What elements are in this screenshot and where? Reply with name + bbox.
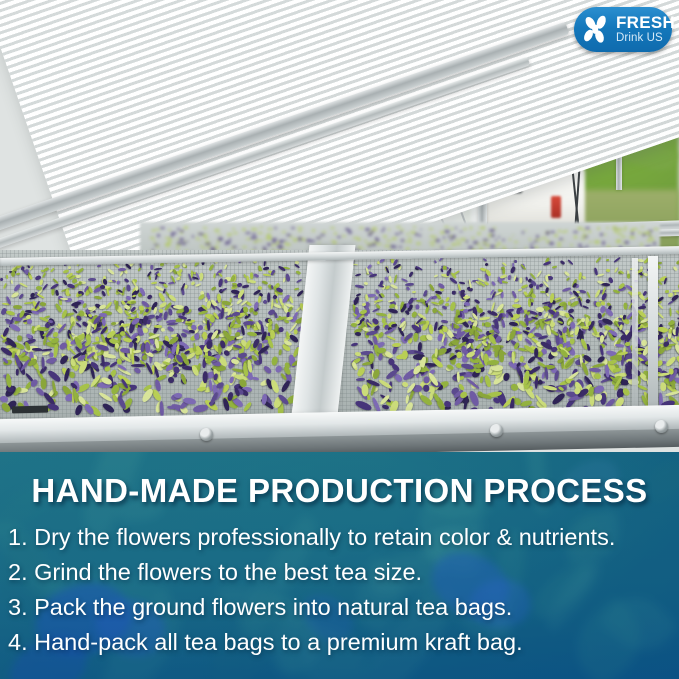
- dried-flower: [150, 237, 155, 239]
- dried-flower: [428, 324, 433, 334]
- brand-logo-badge[interactable]: FRESH Drink US: [574, 7, 672, 52]
- dried-flower: [394, 292, 400, 299]
- dried-flower: [536, 285, 539, 290]
- dried-flower: [594, 240, 600, 244]
- dried-flower: [416, 242, 421, 245]
- dried-flower: [318, 242, 320, 244]
- dried-flower: [114, 343, 118, 349]
- dried-flower: [150, 265, 153, 270]
- dried-flower: [638, 231, 642, 234]
- dried-flower: [479, 317, 490, 321]
- dried-flower: [529, 284, 533, 288]
- dried-flower: [550, 231, 555, 233]
- dried-flower: [623, 242, 626, 245]
- brand-logo-text: FRESH Drink US: [616, 14, 675, 45]
- dried-flower: [378, 284, 384, 287]
- dried-flower: [39, 301, 46, 307]
- dried-flower: [457, 242, 462, 245]
- dried-flower: [268, 233, 271, 235]
- dried-flower: [629, 236, 633, 238]
- dried-flower: [408, 237, 412, 240]
- dried-flower: [647, 239, 651, 242]
- dried-flower: [434, 259, 437, 263]
- dried-flower: [641, 226, 644, 228]
- dried-flower: [151, 281, 157, 284]
- dried-flower: [202, 247, 205, 249]
- dried-flower: [287, 306, 293, 312]
- dried-flower: [330, 227, 335, 229]
- dried-flower: [295, 261, 299, 264]
- dried-flower: [144, 342, 150, 353]
- dried-flower: [376, 238, 379, 241]
- dried-flower: [551, 391, 566, 405]
- dried-flower: [530, 243, 536, 245]
- dried-flower: [631, 232, 634, 235]
- dried-flower: [203, 372, 208, 384]
- dried-flower: [391, 238, 396, 241]
- dried-flower: [294, 264, 300, 269]
- dried-flower: [479, 376, 484, 384]
- dried-flower: [350, 342, 358, 347]
- dried-flower: [112, 279, 116, 282]
- dried-flower: [94, 295, 102, 299]
- dried-flower: [574, 235, 577, 239]
- dried-flower: [443, 236, 445, 239]
- dried-flower: [456, 372, 459, 383]
- dried-flower: [316, 237, 322, 239]
- dried-flower: [16, 369, 19, 376]
- dried-flower: [362, 302, 366, 305]
- dried-flower: [54, 289, 59, 295]
- dried-flower: [577, 227, 583, 230]
- dried-flower: [267, 228, 273, 231]
- dried-flower: [278, 349, 282, 355]
- dried-flower: [77, 293, 81, 296]
- dried-flower: [487, 360, 499, 365]
- production-process-panel: HAND-MADE PRODUCTION PROCESS 1. Dry the …: [0, 452, 679, 679]
- dried-flower: [59, 354, 69, 365]
- dried-flower: [442, 305, 448, 310]
- dried-flower: [376, 347, 385, 352]
- dried-flower: [614, 230, 617, 233]
- dried-flower: [621, 236, 626, 239]
- dried-flower: [364, 294, 368, 301]
- dried-flower: [176, 244, 181, 246]
- dried-flower: [489, 229, 495, 232]
- brand-secondary-text: Drink US: [616, 33, 675, 45]
- dried-flower: [491, 281, 496, 287]
- dried-flower: [126, 284, 131, 292]
- list-item: 3. Pack the ground flowers into natural …: [8, 590, 671, 625]
- dried-flower: [564, 271, 570, 277]
- dried-flower: [103, 353, 116, 360]
- flower-bed-left: [0, 258, 300, 408]
- dried-flower: [482, 226, 485, 229]
- dried-flower: [204, 236, 208, 239]
- dried-flower: [617, 233, 622, 235]
- dried-flower: [581, 239, 586, 241]
- dried-flower: [257, 232, 263, 235]
- flower-bed-right: [350, 258, 679, 408]
- dried-flower: [160, 227, 165, 229]
- dried-flower: [146, 294, 152, 300]
- dried-flower: [378, 378, 392, 389]
- dried-flower: [617, 229, 623, 232]
- dried-flower: [16, 273, 20, 276]
- dried-flower: [257, 296, 261, 303]
- dried-flower: [413, 226, 416, 228]
- dried-flower: [529, 238, 531, 241]
- dried-flower: [604, 233, 607, 236]
- dried-flower: [263, 365, 273, 375]
- dried-flower: [258, 353, 262, 364]
- dried-flower: [538, 283, 542, 287]
- dried-flower: [65, 289, 69, 296]
- dried-flower: [364, 240, 368, 242]
- dried-flower: [441, 319, 448, 323]
- dried-flower: [383, 235, 387, 238]
- dried-flower: [495, 239, 497, 241]
- list-item: 4. Hand-pack all tea bags to a premium k…: [8, 625, 671, 660]
- dried-flower: [462, 309, 468, 314]
- dried-flower: [263, 274, 271, 277]
- dried-flower: [274, 227, 277, 229]
- dried-flower: [434, 274, 438, 278]
- dried-flower: [474, 330, 478, 341]
- dried-flower: [223, 264, 227, 269]
- dried-flower: [194, 283, 200, 287]
- beam-bolt: [655, 420, 668, 433]
- dried-flower: [171, 232, 174, 235]
- dried-flower: [459, 231, 463, 233]
- dried-flower: [124, 278, 130, 284]
- dried-flower: [485, 374, 492, 387]
- dried-flower: [363, 281, 368, 285]
- dried-flower: [211, 286, 217, 291]
- list-item: 1. Dry the flowers professionally to ret…: [8, 520, 671, 555]
- dried-flower: [208, 245, 211, 248]
- dried-flower: [41, 357, 45, 369]
- dried-flower: [232, 246, 237, 248]
- dried-flower: [649, 236, 652, 239]
- dried-flower: [342, 235, 346, 237]
- dried-flower: [519, 277, 523, 283]
- dried-flower: [156, 245, 158, 248]
- dried-flower: [507, 275, 511, 280]
- dried-flower: [388, 228, 390, 231]
- dried-flower: [498, 236, 500, 238]
- tray-edge-right: [648, 256, 658, 416]
- dried-flower: [6, 373, 12, 387]
- dried-flower: [359, 227, 364, 229]
- dried-flower: [622, 315, 626, 320]
- dried-flower: [218, 272, 223, 277]
- dried-flower: [278, 326, 284, 331]
- dried-flower: [131, 364, 145, 367]
- dried-flower: [298, 230, 302, 232]
- dried-flower: [470, 226, 473, 229]
- dried-flower: [567, 301, 570, 305]
- dried-flower: [107, 268, 115, 276]
- dried-flower: [443, 266, 447, 270]
- dried-flower: [502, 246, 506, 248]
- dried-flower: [400, 229, 405, 231]
- dried-flower: [410, 231, 416, 234]
- dried-flower: [483, 257, 487, 261]
- dried-flower: [512, 235, 514, 237]
- dried-flower: [396, 226, 401, 228]
- dried-flower: [2, 283, 7, 289]
- dried-flower: [40, 378, 47, 389]
- dried-flower: [438, 245, 440, 247]
- dried-flower: [68, 266, 72, 269]
- dried-flower: [581, 275, 586, 280]
- dried-flower: [17, 335, 23, 341]
- dried-flower: [400, 349, 408, 360]
- dried-flower: [376, 243, 382, 245]
- dried-flower: [254, 247, 256, 249]
- dried-flower: [387, 245, 391, 247]
- dried-flower: [252, 229, 255, 231]
- dried-flower: [152, 229, 156, 231]
- dried-flower: [134, 367, 142, 375]
- dried-flower: [252, 233, 256, 235]
- dried-flower: [77, 267, 85, 273]
- dried-flower: [101, 290, 106, 296]
- dried-flower: [205, 340, 212, 349]
- dried-flower: [522, 231, 524, 234]
- dried-flower: [334, 232, 337, 235]
- dried-flower: [536, 307, 545, 313]
- dried-flower: [405, 282, 414, 286]
- dried-flower: [477, 232, 481, 236]
- dried-flower: [406, 233, 410, 235]
- dried-flower: [270, 330, 275, 339]
- dried-flower: [578, 244, 582, 247]
- page-title: HAND-MADE PRODUCTION PROCESS: [0, 472, 679, 510]
- dried-flower: [401, 277, 408, 282]
- dried-flower: [356, 378, 365, 382]
- list-item: 2. Grind the flowers to the best tea siz…: [8, 555, 671, 590]
- dried-flower: [449, 301, 456, 311]
- dried-flower: [570, 244, 573, 247]
- dried-flower: [624, 226, 628, 229]
- dried-flower: [675, 309, 679, 318]
- dried-flower: [168, 239, 171, 242]
- dried-flower: [198, 325, 204, 330]
- dried-flower: [401, 239, 404, 242]
- dried-flower: [386, 335, 396, 342]
- dried-flower: [595, 257, 601, 264]
- dried-flower: [208, 264, 215, 271]
- dried-flower: [642, 234, 647, 237]
- dried-flower: [168, 269, 172, 273]
- dried-flower: [39, 279, 43, 286]
- dried-flower: [72, 278, 77, 282]
- dried-flower: [450, 239, 452, 242]
- dried-flower: [520, 264, 526, 271]
- dried-flower: [615, 343, 624, 347]
- dried-flower: [510, 266, 516, 274]
- dried-flower: [156, 228, 158, 231]
- dried-flower: [441, 246, 443, 249]
- dried-flower: [271, 244, 276, 246]
- dried-flower: [6, 275, 8, 279]
- dried-flower: [400, 231, 402, 234]
- dried-flower: [357, 238, 361, 241]
- dried-flower: [6, 310, 16, 316]
- dried-flower: [184, 284, 188, 289]
- dried-flower: [182, 242, 186, 245]
- dried-flower: [168, 308, 173, 315]
- dried-flower: [348, 231, 352, 234]
- dried-flower: [405, 303, 409, 309]
- dried-flower: [588, 230, 592, 233]
- dried-flower: [199, 240, 202, 242]
- dried-flower: [320, 234, 326, 236]
- dried-flower: [423, 384, 430, 392]
- dried-flower: [196, 237, 199, 240]
- dried-flower: [207, 292, 211, 300]
- dried-flower: [433, 392, 440, 402]
- dried-flower: [354, 273, 360, 276]
- dried-flower: [415, 304, 419, 310]
- dried-flower: [267, 292, 270, 302]
- dried-flower: [514, 298, 520, 303]
- dried-flower: [412, 291, 416, 293]
- dried-flower: [429, 241, 435, 243]
- dried-flower: [354, 351, 360, 356]
- dried-flower: [159, 401, 164, 417]
- dried-flower: [444, 230, 450, 233]
- dried-flower: [294, 288, 299, 291]
- dried-flower: [282, 231, 287, 233]
- dried-flower: [429, 228, 433, 230]
- dried-flower: [217, 234, 222, 236]
- dried-flower: [368, 233, 373, 236]
- dried-flower: [471, 237, 475, 239]
- dried-flower: [457, 284, 460, 291]
- dried-flower: [452, 291, 456, 295]
- dried-flower: [440, 231, 445, 234]
- dried-flower: [174, 393, 182, 398]
- dried-flower: [183, 227, 186, 230]
- dried-flower: [422, 290, 427, 297]
- dried-flower: [408, 272, 413, 278]
- beam-label-plate: [12, 406, 48, 414]
- process-step-list: 1. Dry the flowers professionally to ret…: [8, 520, 671, 660]
- dried-flower: [395, 233, 399, 236]
- dried-flower: [105, 301, 113, 310]
- dried-flower: [168, 293, 177, 302]
- dried-flower: [455, 239, 458, 242]
- dried-flower: [583, 229, 586, 232]
- dried-flower: [163, 311, 168, 320]
- dried-flower: [162, 283, 167, 289]
- dried-flower: [392, 342, 401, 346]
- dried-flower: [497, 242, 501, 245]
- dried-flower: [536, 235, 539, 238]
- dried-flower: [503, 372, 510, 381]
- dried-flower: [96, 264, 100, 267]
- dried-flower: [578, 272, 582, 280]
- dried-flower: [267, 238, 271, 240]
- dried-flower: [88, 307, 93, 310]
- dried-flower: [24, 269, 28, 274]
- dried-flower: [0, 277, 4, 281]
- dried-flower: [534, 348, 538, 358]
- dried-flower: [481, 322, 484, 326]
- dried-flower: [366, 263, 372, 269]
- dried-flower: [180, 373, 187, 385]
- dried-flower: [388, 275, 391, 282]
- dried-flower: [182, 262, 186, 267]
- dried-flower: [42, 272, 47, 279]
- dried-flower: [176, 247, 179, 249]
- dried-flower: [665, 390, 679, 396]
- dried-flower: [567, 259, 573, 265]
- dried-flower: [225, 242, 229, 245]
- dried-flower: [377, 331, 384, 338]
- dried-flower: [374, 299, 383, 302]
- dried-flower: [337, 236, 341, 238]
- dried-flower: [562, 231, 566, 234]
- dried-flower: [131, 300, 136, 302]
- dried-flower: [606, 259, 609, 261]
- dried-flower: [227, 233, 232, 236]
- dried-flower: [285, 273, 290, 282]
- dried-flower: [10, 280, 13, 284]
- dried-flower: [597, 274, 605, 277]
- dried-flower: [597, 227, 601, 230]
- dried-flower: [491, 365, 503, 372]
- dried-flower: [626, 274, 629, 279]
- dried-flower: [586, 299, 591, 304]
- dried-flower: [445, 296, 450, 302]
- dried-flower: [509, 238, 512, 241]
- dried-flower: [376, 312, 387, 317]
- dried-flower: [559, 259, 565, 264]
- flower-petals-icon: [581, 14, 611, 46]
- dried-flower: [242, 228, 246, 231]
- dried-flower: [165, 243, 170, 247]
- dried-flower: [50, 283, 59, 290]
- dried-flower: [537, 311, 543, 317]
- dried-flower: [502, 239, 505, 241]
- dried-flower: [232, 228, 235, 230]
- truck-tail-light: [551, 196, 561, 218]
- dried-flower: [602, 241, 605, 245]
- dried-flower: [372, 227, 377, 229]
- dried-flower: [220, 288, 227, 293]
- dried-flower: [218, 278, 223, 287]
- dried-flower: [30, 310, 39, 315]
- dried-flower: [312, 229, 315, 232]
- dried-flower: [675, 260, 679, 265]
- dried-flower: [253, 241, 257, 243]
- dried-flower: [128, 342, 133, 349]
- dried-flower: [466, 240, 468, 243]
- dried-flower: [444, 226, 449, 228]
- dried-flower: [450, 228, 455, 231]
- dried-flower: [63, 269, 69, 274]
- dried-flower: [605, 307, 615, 317]
- dried-flower: [433, 236, 437, 239]
- dried-flower: [243, 273, 246, 277]
- dried-flower: [546, 231, 548, 235]
- dried-flower: [569, 338, 576, 345]
- dried-flower: [280, 380, 291, 393]
